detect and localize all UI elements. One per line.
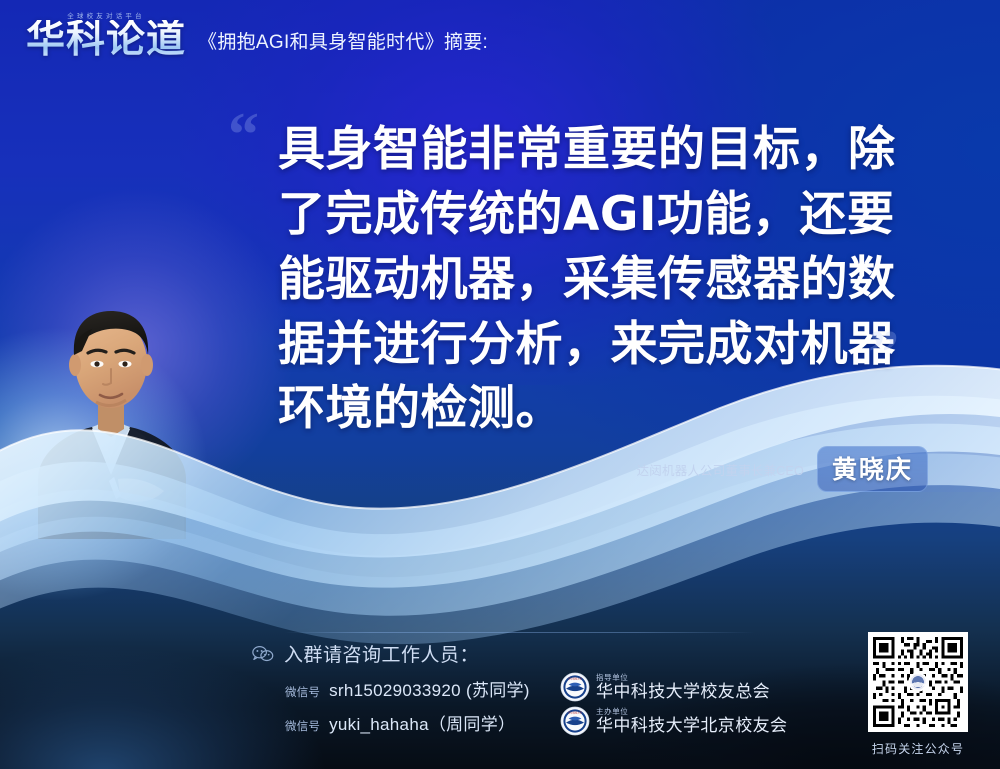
contact-label: 微信号 <box>285 684 320 700</box>
quote-open-mark: “ <box>228 104 259 166</box>
qr-code[interactable] <box>868 632 968 732</box>
org-name: 华中科技大学北京校友会 <box>596 717 787 735</box>
org-name: 华中科技大学校友总会 <box>596 683 770 701</box>
organization-list: 华中科技大学 1952 指导单位 华中科技大学校友总会 华中科技大学 1952 … <box>560 670 787 738</box>
list-item: 华中科技大学 1952 主办单位 华中科技大学北京校友会 <box>560 704 787 738</box>
footer-heading: 入群请咨询工作人员： <box>284 640 479 667</box>
svg-text:1952: 1952 <box>572 697 578 699</box>
brand-logo: 全球校友对话平台 华科论道 <box>26 12 186 59</box>
qr-code-image <box>873 637 963 727</box>
speaker-title: 达闼机器人公司董事长兼CEO <box>637 460 804 479</box>
list-item: 华中科技大学 1952 指导单位 华中科技大学校友总会 <box>560 670 787 704</box>
contact-value: yuki_hahaha（周同学） <box>329 710 515 735</box>
quote-close-mark: ” <box>868 322 899 384</box>
page-title: 《拥抱AGI和具身智能时代》摘要: <box>198 27 488 59</box>
poster-canvas: 全球校友对话平台 华科论道 《拥抱AGI和具身智能时代》摘要: “ 具身智能非常… <box>0 0 1000 769</box>
svg-text:华中科技大学: 华中科技大学 <box>568 710 582 714</box>
speaker-name-badge: 黄晓庆 <box>817 446 928 492</box>
speaker-attribution: 达闼机器人公司董事长兼CEO 黄晓庆 <box>637 446 928 492</box>
university-emblem-icon: 华中科技大学 1952 <box>560 706 590 736</box>
brand-logo-text: 华科论道 <box>26 20 186 59</box>
footer-heading-row: 入群请咨询工作人员： <box>252 640 792 667</box>
svg-text:华中科技大学: 华中科技大学 <box>568 676 582 680</box>
header: 全球校友对话平台 华科论道 《拥抱AGI和具身智能时代》摘要: <box>26 12 488 59</box>
speaker-portrait <box>22 247 200 539</box>
qr-block: 扫码关注公众号 <box>860 632 976 757</box>
org-kicker: 主办单位 <box>596 708 787 716</box>
org-kicker: 指导单位 <box>596 674 770 682</box>
svg-text:1952: 1952 <box>572 731 578 733</box>
wechat-icon <box>252 645 274 662</box>
qr-caption: 扫码关注公众号 <box>860 740 976 757</box>
contact-label: 微信号 <box>285 718 320 734</box>
contact-value: srh15029033920 (苏同学) <box>329 676 530 701</box>
university-emblem-icon: 华中科技大学 1952 <box>560 672 590 702</box>
org-text-group: 主办单位 华中科技大学北京校友会 <box>596 708 787 735</box>
org-text-group: 指导单位 华中科技大学校友总会 <box>596 674 770 701</box>
quote-text: 具身智能非常重要的目标，除了完成传统的AGI功能，还要能驱动机器，采集传感器的数… <box>278 118 938 442</box>
footer-divider <box>285 632 755 633</box>
